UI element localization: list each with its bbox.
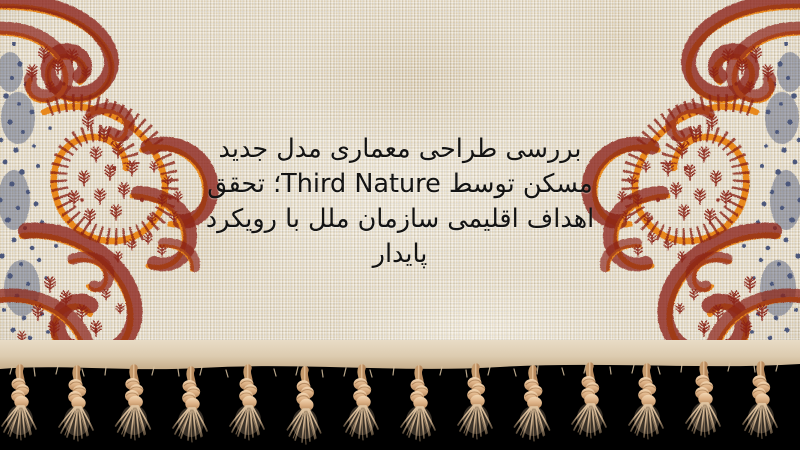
title-line-4: پایدار xyxy=(196,237,604,272)
slide-canvas: بررسی طراحی معماری مدل جدید مسکن توسط Th… xyxy=(0,0,800,450)
title-line-1: بررسی طراحی معماری مدل جدید xyxy=(196,132,604,167)
knotted-tassel-fringe xyxy=(0,340,800,450)
slide-title: بررسی طراحی معماری مدل جدید مسکن توسط Th… xyxy=(196,132,604,272)
title-line-2: مسکن توسط Third Nature؛ تحقق xyxy=(196,167,604,202)
title-line-3: اهداف اقلیمی سازمان ملل با رویکرد xyxy=(196,202,604,237)
